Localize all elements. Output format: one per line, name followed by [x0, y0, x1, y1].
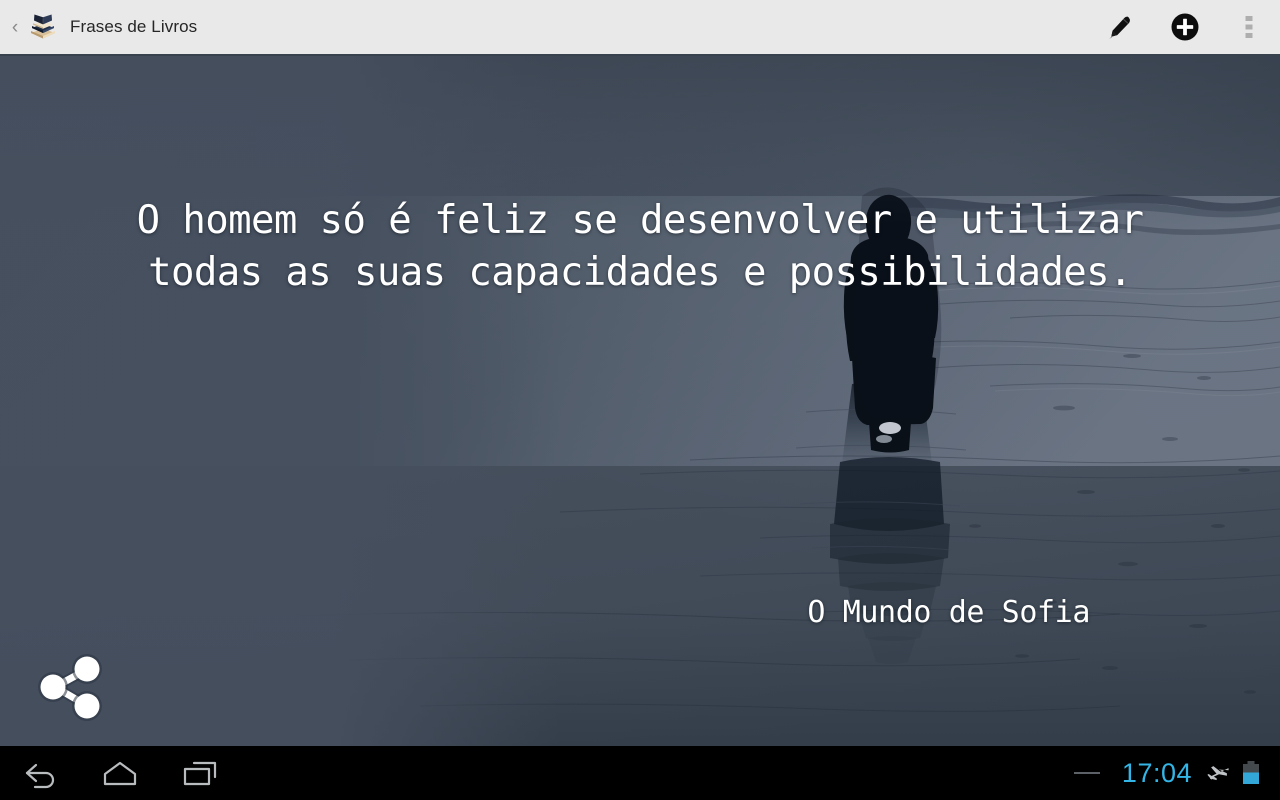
app-root: O homem só é feliz se desenvolver e util… [0, 0, 1280, 800]
battery-icon [1241, 759, 1261, 787]
app-logo[interactable] [28, 12, 58, 42]
nav-back-icon [19, 756, 61, 790]
stacked-books-icon [28, 12, 58, 42]
quote-background-photo [0, 56, 1280, 746]
action-bar: ‹ Frases de Livros [0, 0, 1280, 56]
nav-recents-icon [177, 756, 223, 790]
share-icon [38, 654, 102, 721]
nav-home-button[interactable] [80, 746, 160, 800]
page-title: Frases de Livros [70, 17, 197, 37]
system-navigation-bar: 17:04 [0, 746, 1280, 800]
nav-home-icon [97, 756, 143, 790]
status-clock: 17:04 [1122, 760, 1192, 787]
pencil-icon [1103, 11, 1135, 43]
share-button[interactable] [28, 645, 112, 729]
airplane-mode-icon [1206, 760, 1232, 786]
overflow-menu-button[interactable] [1218, 0, 1280, 55]
nav-back-button[interactable] [0, 746, 80, 800]
no-notifications-dash [1074, 772, 1100, 774]
up-navigation-button[interactable]: ‹ [0, 18, 26, 37]
edit-button[interactable] [1086, 0, 1152, 55]
status-area[interactable]: 17:04 [1074, 746, 1280, 800]
overflow-menu-icon [1238, 12, 1260, 42]
nav-recents-button[interactable] [160, 746, 240, 800]
chevron-left-icon: ‹ [12, 17, 18, 38]
add-button[interactable] [1152, 0, 1218, 55]
plus-circle-icon [1168, 10, 1202, 44]
